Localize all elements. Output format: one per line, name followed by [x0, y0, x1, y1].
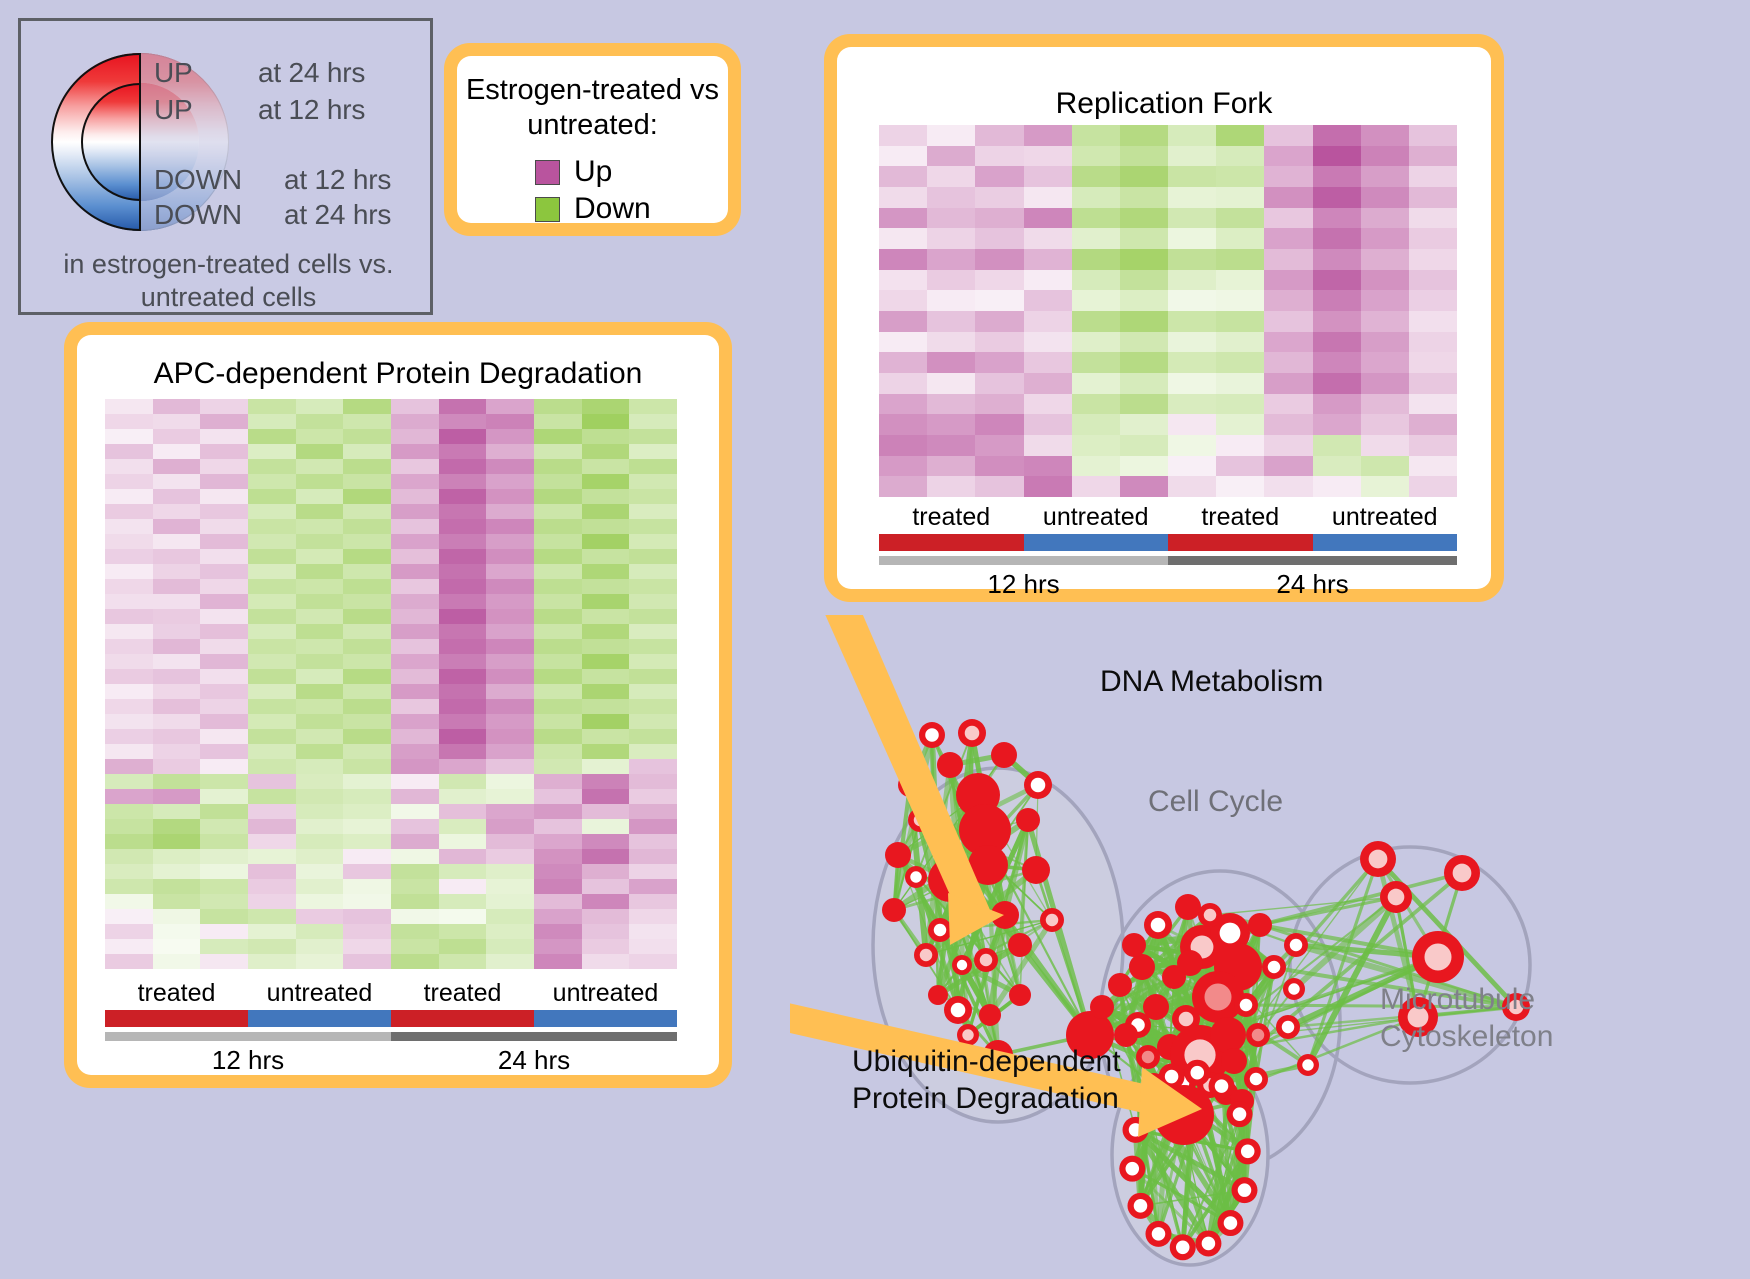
heatmap-cell — [391, 564, 439, 579]
heatmap-cell — [582, 579, 630, 594]
heatmap-cell — [105, 834, 153, 849]
heatmap-cell — [153, 834, 201, 849]
heatmap-cell — [248, 774, 296, 789]
replication-fork-timepoint-labels: 12 hrs24 hrs — [879, 569, 1457, 600]
heatmap-cell — [153, 939, 201, 954]
heatmap-cell — [879, 249, 927, 270]
heatmap-cell — [927, 414, 975, 435]
heatmap-cell — [391, 549, 439, 564]
network-node — [1022, 856, 1050, 884]
heatmap-cell — [1313, 187, 1361, 208]
heatmap-cell — [1361, 208, 1409, 229]
heatmap-cell — [153, 399, 201, 414]
heatmap-cell — [248, 699, 296, 714]
heatmap-cell — [1120, 270, 1168, 291]
heatmap-cell — [439, 414, 487, 429]
network-node — [1244, 1067, 1268, 1091]
heatmap-cell — [439, 639, 487, 654]
heatmap-cell — [105, 804, 153, 819]
heatmap-cell — [629, 399, 677, 414]
heatmap-cell — [582, 924, 630, 939]
heatmap-cell — [1409, 125, 1457, 146]
heatmap-cell — [153, 594, 201, 609]
heatmap-cell — [1409, 270, 1457, 291]
heatmap-cell — [1361, 249, 1409, 270]
apc-degradation-heatmap-grid — [105, 399, 677, 969]
heatmap-cell — [343, 399, 391, 414]
heatmap-cell — [1361, 228, 1409, 249]
heatmap-cell — [1264, 476, 1312, 497]
heatmap-cell — [629, 474, 677, 489]
heatmap-cell — [927, 166, 975, 187]
colorwheel-row-direction: UP — [154, 57, 258, 89]
heatmap-cell — [629, 609, 677, 624]
network-node — [882, 898, 906, 922]
heatmap-cell — [1313, 311, 1361, 332]
heatmap-cell — [534, 684, 582, 699]
heatmap-cell — [1072, 394, 1120, 415]
heatmap-cell — [153, 459, 201, 474]
heatmap-cell — [629, 879, 677, 894]
heatmap-cell — [927, 270, 975, 291]
heatmap-cell — [1264, 352, 1312, 373]
heatmap-cell — [1072, 208, 1120, 229]
heatmap-cell — [200, 849, 248, 864]
colorwheel-row-direction: UP — [154, 94, 258, 126]
protein-interaction-network — [790, 615, 1750, 1279]
heatmap-cell — [582, 474, 630, 489]
heatmap-cell — [439, 894, 487, 909]
heatmap-cell — [1361, 270, 1409, 291]
heatmap-cell — [1216, 125, 1264, 146]
heatmap-cell — [296, 639, 344, 654]
heatmap-cell — [391, 489, 439, 504]
heatmap-group-colorbar-segment — [1168, 534, 1313, 551]
heatmap-cell — [582, 534, 630, 549]
heatmap-timepoint-bar-segment — [391, 1032, 677, 1041]
heatmap-cell — [248, 459, 296, 474]
heatmap-cell — [391, 864, 439, 879]
heatmap-cell — [105, 684, 153, 699]
heatmap-cell — [534, 534, 582, 549]
heatmap-cell — [486, 594, 534, 609]
heatmap-cell — [1313, 476, 1361, 497]
heatmap-cell — [486, 714, 534, 729]
legend-label-down: Down — [574, 192, 651, 226]
heatmap-cell — [1072, 270, 1120, 291]
heatmap-cell — [153, 609, 201, 624]
heatmap-cell — [879, 373, 927, 394]
heatmap-cell — [486, 654, 534, 669]
legend-label-up: Up — [574, 155, 612, 189]
network-node — [1209, 1073, 1235, 1099]
heatmap-cell — [1216, 311, 1264, 332]
heatmap-group-label: untreated — [1313, 503, 1458, 532]
heatmap-cell — [153, 909, 201, 924]
heatmap-cell — [1024, 332, 1072, 353]
heatmap-cell — [296, 624, 344, 639]
heatmap-cell — [200, 684, 248, 699]
heatmap-group-label: treated — [1168, 503, 1313, 532]
heatmap-cell — [582, 834, 630, 849]
apc-degradation-axis: treateduntreatedtreateduntreated 12 hrs2… — [105, 979, 677, 1076]
heatmap-cell — [534, 669, 582, 684]
heatmap-cell — [1024, 125, 1072, 146]
heatmap-cell — [153, 429, 201, 444]
heatmap-cell — [391, 789, 439, 804]
legend-item-up: Up — [535, 155, 612, 189]
heatmap-cell — [343, 489, 391, 504]
heatmap-cell — [391, 519, 439, 534]
heatmap-cell — [486, 864, 534, 879]
heatmap-cell — [296, 894, 344, 909]
heatmap-cell — [105, 759, 153, 774]
heatmap-cell — [927, 394, 975, 415]
heatmap-cell — [486, 564, 534, 579]
heatmap-cell — [296, 669, 344, 684]
heatmap-cell — [391, 939, 439, 954]
heatmap-cell — [153, 864, 201, 879]
heatmap-cell — [248, 729, 296, 744]
heatmap-cell — [1313, 249, 1361, 270]
heatmap-cell — [153, 954, 201, 969]
network-node — [979, 1004, 1001, 1026]
heatmap-cell — [1024, 373, 1072, 394]
network-node — [1297, 1054, 1319, 1076]
heatmap-cell — [534, 639, 582, 654]
heatmap-cell — [343, 444, 391, 459]
heatmap-cell — [1409, 414, 1457, 435]
heatmap-cell — [927, 435, 975, 456]
heatmap-cell — [343, 594, 391, 609]
heatmap-cell — [1216, 414, 1264, 435]
heatmap-cell — [105, 939, 153, 954]
network-node — [1009, 984, 1031, 1006]
heatmap-cell — [248, 714, 296, 729]
colorwheel-row-down-24: DOWNat 24 hrs — [154, 199, 391, 231]
heatmap-cell — [1264, 414, 1312, 435]
heatmap-cell — [1216, 146, 1264, 167]
network-node — [1284, 933, 1308, 957]
heatmap-cell — [582, 399, 630, 414]
heatmap-cell — [296, 954, 344, 969]
heatmap-cell — [1409, 228, 1457, 249]
heatmap-cell — [629, 804, 677, 819]
heatmap-cell — [439, 654, 487, 669]
heatmap-cell — [105, 444, 153, 459]
heatmap-cell — [391, 504, 439, 519]
heatmap-cell — [1216, 228, 1264, 249]
apc-degradation-group-colorbar — [105, 1010, 677, 1027]
network-node — [1235, 1138, 1261, 1164]
heatmap-cell — [1024, 166, 1072, 187]
heatmap-cell — [153, 819, 201, 834]
network-node — [1136, 1045, 1160, 1069]
heatmap-cell — [391, 729, 439, 744]
heatmap-cell — [391, 894, 439, 909]
heatmap-cell — [105, 624, 153, 639]
heatmap-cell — [927, 249, 975, 270]
network-node — [1234, 993, 1258, 1017]
heatmap-cell — [1072, 311, 1120, 332]
colorwheel-divider-line — [139, 53, 141, 231]
heatmap-cell — [296, 579, 344, 594]
heatmap-cell — [200, 909, 248, 924]
heatmap-cell — [1168, 228, 1216, 249]
heatmap-cell — [343, 924, 391, 939]
heatmap-cell — [975, 270, 1023, 291]
heatmap-cell — [486, 624, 534, 639]
heatmap-cell — [391, 654, 439, 669]
heatmap-group-colorbar-segment — [534, 1010, 677, 1027]
heatmap-cell — [1120, 352, 1168, 373]
heatmap-cell — [343, 819, 391, 834]
heatmap-cell — [1409, 187, 1457, 208]
heatmap-cell — [391, 699, 439, 714]
network-node — [1040, 908, 1064, 932]
heatmap-cell — [391, 414, 439, 429]
heatmap-cell — [534, 414, 582, 429]
heatmap-cell — [1409, 456, 1457, 477]
heatmap-cell — [343, 459, 391, 474]
network-node — [1231, 1177, 1257, 1203]
heatmap-cell — [1072, 352, 1120, 373]
heatmap-cell — [1264, 290, 1312, 311]
heatmap-cell — [1216, 270, 1264, 291]
apc-degradation-timepoint-bar — [105, 1032, 677, 1041]
heatmap-cell — [1216, 208, 1264, 229]
heatmap-cell — [975, 166, 1023, 187]
heatmap-cell — [296, 489, 344, 504]
heatmap-cell — [153, 789, 201, 804]
heatmap-cell — [153, 684, 201, 699]
heatmap-cell — [1313, 332, 1361, 353]
heatmap-cell — [296, 684, 344, 699]
heatmap-cell — [1264, 332, 1312, 353]
heatmap-cell — [296, 654, 344, 669]
heatmap-cell — [343, 639, 391, 654]
heatmap-cell — [1264, 373, 1312, 394]
heatmap-cell — [343, 879, 391, 894]
network-node — [991, 742, 1017, 768]
heatmap-cell — [296, 729, 344, 744]
heatmap-cell — [153, 444, 201, 459]
heatmap-group-colorbar-segment — [248, 1010, 391, 1027]
network-node — [1380, 881, 1412, 913]
heatmap-cell — [629, 684, 677, 699]
heatmap-cell — [200, 594, 248, 609]
heatmap-cell — [582, 789, 630, 804]
heatmap-cell — [439, 534, 487, 549]
heatmap-cell — [1361, 290, 1409, 311]
heatmap-cell — [248, 414, 296, 429]
heatmap-cell — [200, 819, 248, 834]
figure-canvas: UPat 24 hrs UPat 12 hrs DOWNat 12 hrs DO… — [0, 0, 1750, 1279]
heatmap-cell — [1409, 394, 1457, 415]
heatmap-cell — [248, 744, 296, 759]
heatmap-cell — [1168, 373, 1216, 394]
heatmap-cell — [1264, 270, 1312, 291]
heatmap-cell — [391, 429, 439, 444]
heatmap-cell — [629, 894, 677, 909]
heatmap-cell — [582, 669, 630, 684]
heatmap-cell — [1072, 125, 1120, 146]
heatmap-cell — [248, 894, 296, 909]
heatmap-cell — [582, 879, 630, 894]
heatmap-cell — [1120, 414, 1168, 435]
heatmap-cell — [927, 311, 975, 332]
heatmap-cell — [1168, 394, 1216, 415]
heatmap-cell — [486, 699, 534, 714]
heatmap-cell — [534, 444, 582, 459]
replication-fork-group-labels: treateduntreatedtreateduntreated — [879, 503, 1457, 532]
heatmap-cell — [439, 444, 487, 459]
heatmap-cell — [534, 699, 582, 714]
heatmap-cell — [582, 429, 630, 444]
heatmap-cell — [200, 789, 248, 804]
heatmap-cell — [296, 924, 344, 939]
heatmap-cell — [1313, 146, 1361, 167]
heatmap-cell — [439, 594, 487, 609]
heatmap-cell — [105, 399, 153, 414]
heatmap-cell — [248, 594, 296, 609]
heatmap-cell — [200, 564, 248, 579]
heatmap-cell — [629, 729, 677, 744]
heatmap-cell — [1120, 332, 1168, 353]
heatmap-cell — [1216, 456, 1264, 477]
heatmap-cell — [200, 504, 248, 519]
heatmap-cell — [248, 429, 296, 444]
heatmap-cell — [1072, 373, 1120, 394]
heatmap-cell — [200, 519, 248, 534]
heatmap-cell — [248, 924, 296, 939]
network-node — [1444, 855, 1480, 891]
heatmap-cell — [343, 669, 391, 684]
heatmap-cell — [534, 879, 582, 894]
heatmap-cell — [582, 954, 630, 969]
heatmap-group-label: untreated — [248, 979, 391, 1008]
heatmap-cell — [1216, 352, 1264, 373]
heatmap-cell — [486, 939, 534, 954]
heatmap-cell — [200, 954, 248, 969]
heatmap-cell — [582, 504, 630, 519]
heatmap-cell — [153, 624, 201, 639]
heatmap-cell — [200, 939, 248, 954]
heatmap-cell — [879, 311, 927, 332]
network-node — [1248, 913, 1272, 937]
heatmap-cell — [391, 759, 439, 774]
heatmap-cell — [296, 444, 344, 459]
heatmap-cell — [105, 789, 153, 804]
heatmap-group-label: treated — [879, 503, 1024, 532]
heatmap-cell — [1409, 332, 1457, 353]
heatmap-cell — [200, 579, 248, 594]
network-node — [1246, 1023, 1270, 1047]
heatmap-cell — [975, 208, 1023, 229]
network-node — [1127, 1193, 1153, 1219]
heatmap-cell — [486, 759, 534, 774]
network-node — [1175, 894, 1201, 920]
heatmap-cell — [439, 819, 487, 834]
heatmap-cell — [248, 579, 296, 594]
heatmap-cell — [391, 834, 439, 849]
heatmap-cell — [1072, 187, 1120, 208]
heatmap-cell — [343, 849, 391, 864]
network-node — [1195, 1230, 1221, 1256]
heatmap-cell — [879, 332, 927, 353]
heatmap-cell — [1264, 208, 1312, 229]
heatmap-cell — [343, 804, 391, 819]
heatmap-cell — [248, 804, 296, 819]
heatmap-cell — [1120, 311, 1168, 332]
heatmap-cell — [1072, 146, 1120, 167]
heatmap-cell — [629, 534, 677, 549]
heatmap-cell — [629, 954, 677, 969]
heatmap-cell — [200, 924, 248, 939]
heatmap-timepoint-bar-segment — [879, 556, 1168, 565]
heatmap-cell — [248, 684, 296, 699]
heatmap-cell — [582, 549, 630, 564]
colorwheel-row-time: at 12 hrs — [258, 94, 365, 126]
heatmap-cell — [296, 609, 344, 624]
heatmap-cell — [1361, 187, 1409, 208]
heatmap-cell — [975, 187, 1023, 208]
heatmap-cell — [1313, 373, 1361, 394]
heatmap-cell — [391, 744, 439, 759]
heatmap-cell — [629, 669, 677, 684]
heatmap-cell — [629, 489, 677, 504]
heatmap-cell — [343, 699, 391, 714]
heatmap-cell — [1313, 290, 1361, 311]
heatmap-cell — [1024, 435, 1072, 456]
heatmap-cell — [486, 549, 534, 564]
heatmap-cell — [1168, 125, 1216, 146]
apc-degradation-title: APC-dependent Protein Degradation — [77, 357, 719, 391]
heatmap-cell — [582, 609, 630, 624]
heatmap-cell — [153, 549, 201, 564]
heatmap-cell — [296, 849, 344, 864]
replication-fork-timepoint-bar — [879, 556, 1457, 565]
heatmap-cell — [879, 208, 927, 229]
heatmap-cell — [1072, 228, 1120, 249]
heatmap-cell — [927, 228, 975, 249]
heatmap-cell — [439, 549, 487, 564]
heatmap-cell — [391, 579, 439, 594]
legend-swatch-up — [535, 160, 560, 185]
heatmap-cell — [343, 534, 391, 549]
heatmap-cell — [1168, 166, 1216, 187]
heatmap-cell — [629, 924, 677, 939]
heatmap-cell — [153, 924, 201, 939]
heatmap-cell — [1409, 166, 1457, 187]
heatmap-cell — [439, 834, 487, 849]
heatmap-cell — [248, 834, 296, 849]
heatmap-cell — [105, 654, 153, 669]
heatmap-cell — [582, 624, 630, 639]
heatmap-cell — [1120, 476, 1168, 497]
heatmap-cell — [248, 564, 296, 579]
heatmap-cell — [629, 459, 677, 474]
heatmap-cell — [296, 429, 344, 444]
heatmap-cell — [927, 476, 975, 497]
heatmap-cell — [391, 444, 439, 459]
network-node — [928, 985, 948, 1005]
heatmap-cell — [391, 624, 439, 639]
heatmap-cell — [153, 669, 201, 684]
heatmap-cell — [927, 187, 975, 208]
heatmap-cell — [1168, 414, 1216, 435]
heatmap-cell — [1313, 435, 1361, 456]
